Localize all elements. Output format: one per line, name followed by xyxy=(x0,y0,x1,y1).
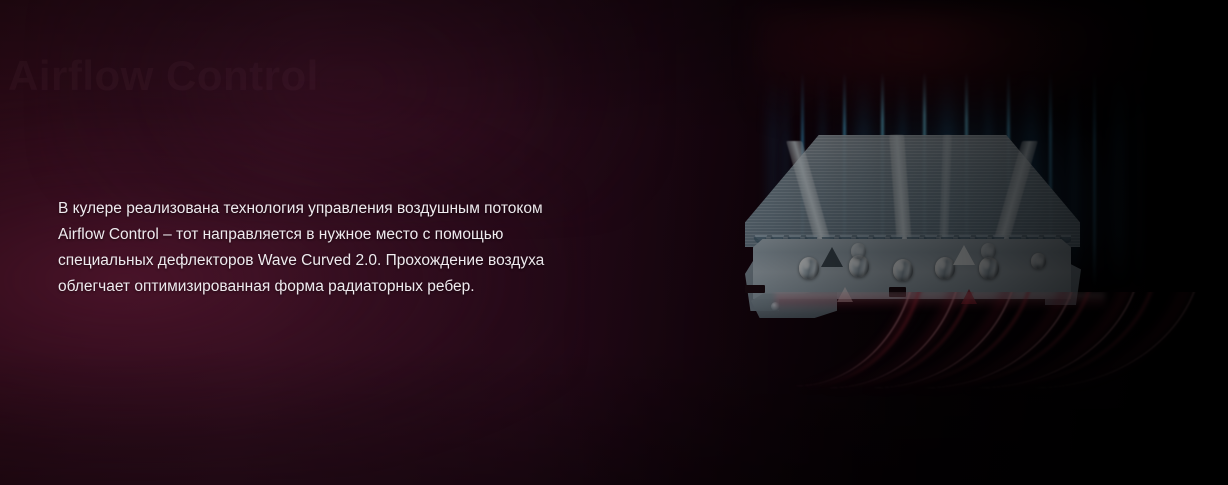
airflow-control-banner: Airflow Control В кулере реализована тех… xyxy=(0,0,1228,485)
vignette-overlay xyxy=(0,0,1228,485)
